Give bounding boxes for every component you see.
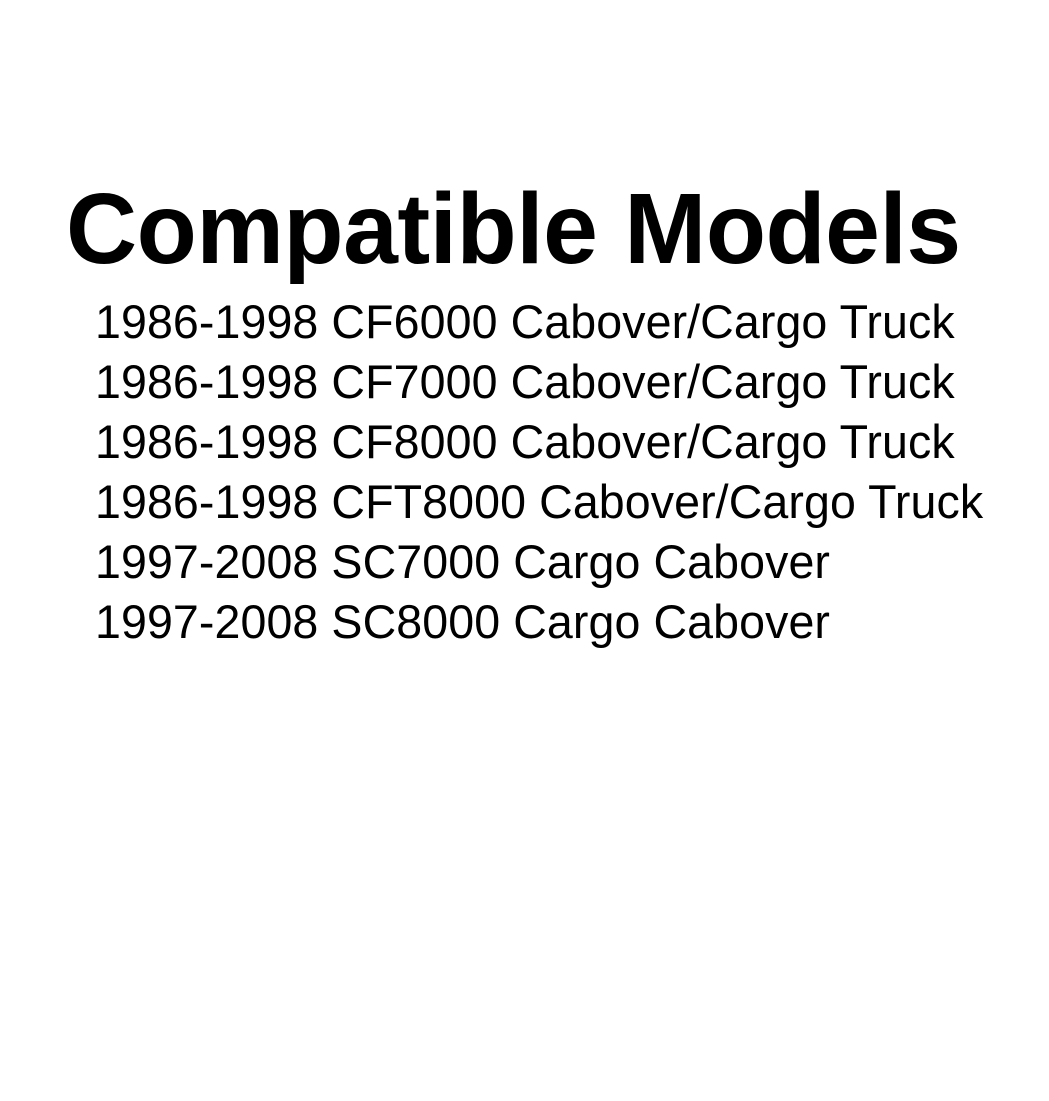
list-item: 1986-1998 CFT8000 Cabover/Cargo Truck xyxy=(95,472,986,532)
compatible-models-list: 1986-1998 CF6000 Cabover/Cargo Truck 198… xyxy=(95,292,995,652)
list-item: 1986-1998 CF6000 Cabover/Cargo Truck xyxy=(95,292,986,352)
list-item: 1997-2008 SC8000 Cargo Cabover xyxy=(95,592,986,652)
compatibility-page: Compatible Models 1986-1998 CF6000 Cabov… xyxy=(0,0,1049,1101)
list-item: 1986-1998 CF7000 Cabover/Cargo Truck xyxy=(95,352,986,412)
list-item: 1986-1998 CF8000 Cabover/Cargo Truck xyxy=(95,412,986,472)
page-title: Compatible Models xyxy=(66,179,992,279)
list-item: 1997-2008 SC7000 Cargo Cabover xyxy=(95,532,986,592)
